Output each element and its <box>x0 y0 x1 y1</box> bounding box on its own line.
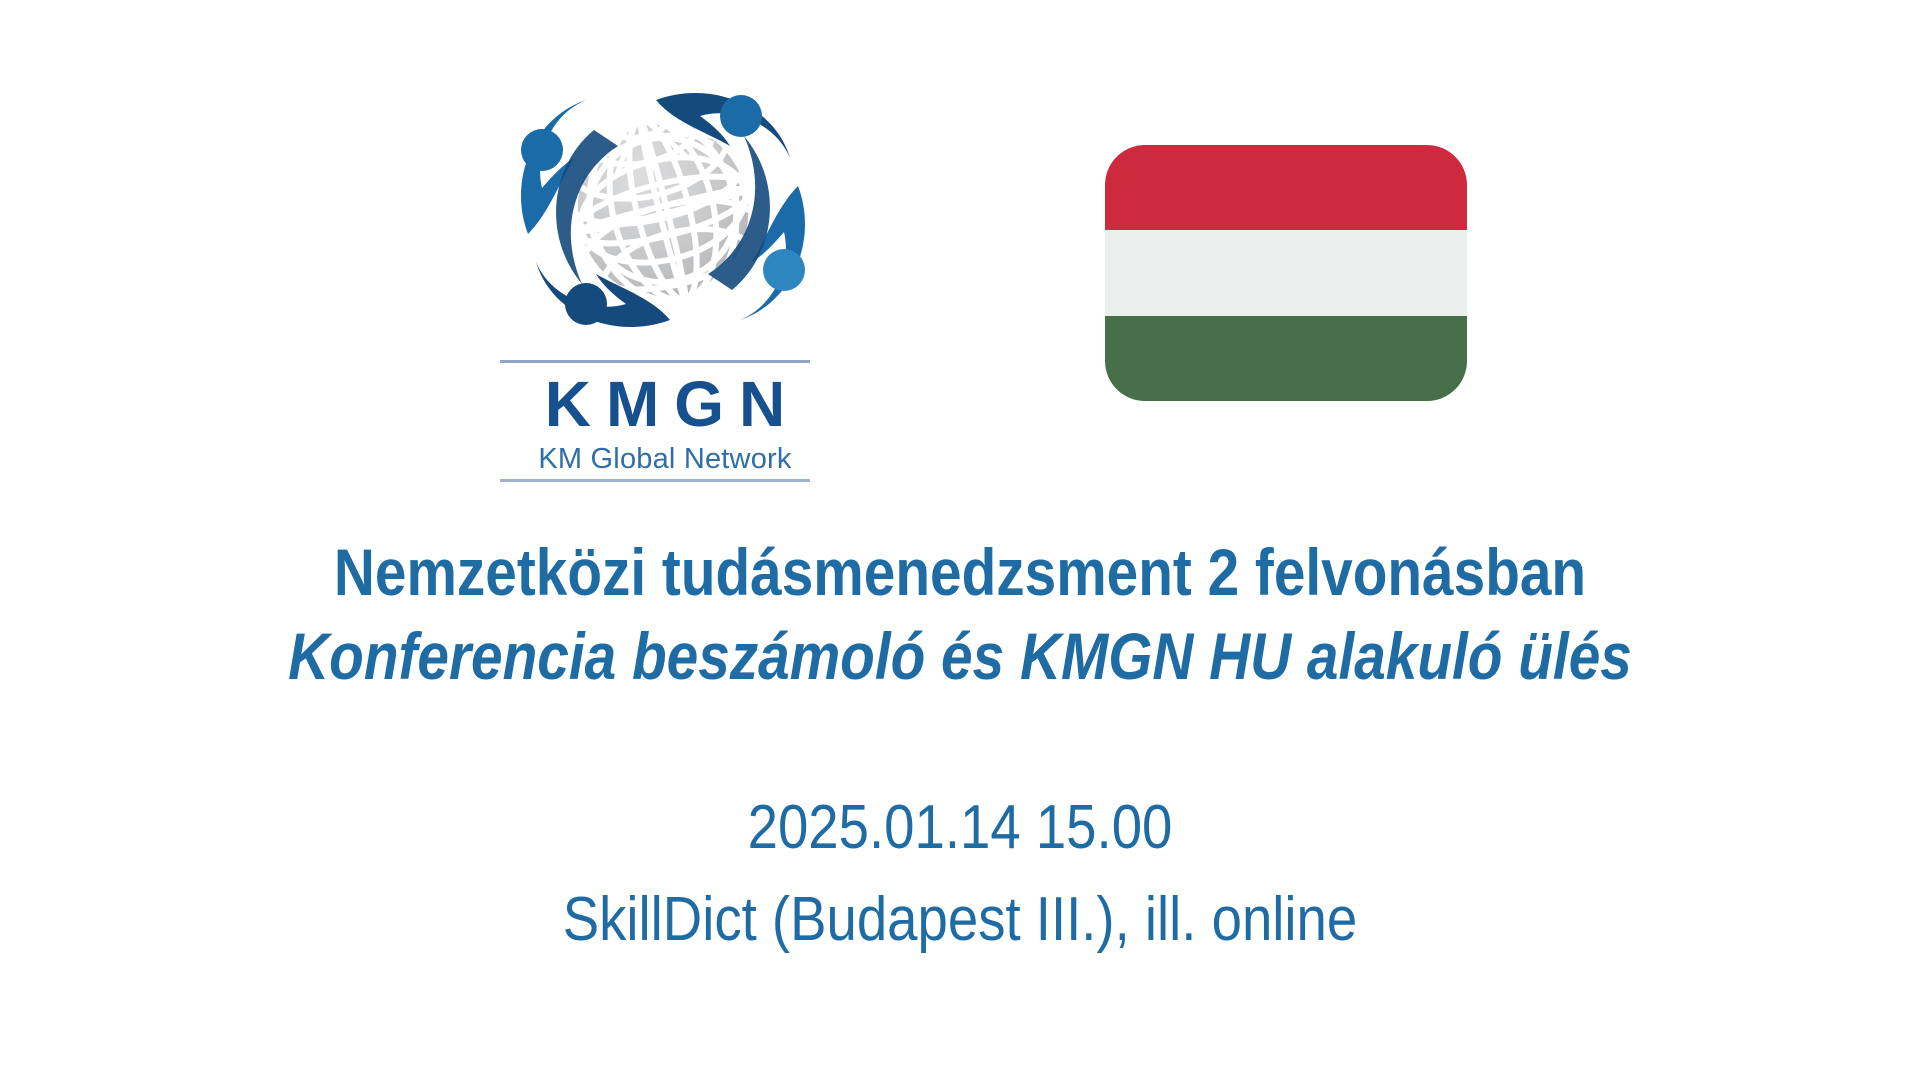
flag-stripe-white <box>1105 230 1467 315</box>
headline-line-1: Nemzetközi tudásmenedzsment 2 felvonásba… <box>134 530 1785 614</box>
hungary-flag-icon <box>1105 145 1467 401</box>
kmgn-tagline: KM Global Network <box>490 442 840 476</box>
slide-canvas: KMGN KM Global Network Nemzetközi tudásm… <box>0 0 1920 1080</box>
kmgn-divider-top <box>500 360 810 363</box>
text-block: Nemzetközi tudásmenedzsment 2 felvonásba… <box>0 530 1920 966</box>
kmgn-wordmark: KMGN <box>490 366 840 442</box>
logo-row: KMGN KM Global Network <box>0 60 1920 480</box>
kmgn-divider-bottom <box>500 479 810 482</box>
event-datetime: 2025.01.14 15.00 <box>115 782 1805 874</box>
flag-stripe-green <box>1105 316 1467 401</box>
kmgn-logo: KMGN KM Global Network <box>490 70 840 490</box>
flag-stripe-red <box>1105 145 1467 230</box>
headline-details-spacer <box>0 698 1920 782</box>
globe-network-people-icon <box>498 70 828 360</box>
headline-line-2: Konferencia beszámoló és KMGN HU alakuló… <box>134 614 1785 698</box>
event-location: SkillDict (Budapest III.), ill. online <box>115 874 1805 966</box>
